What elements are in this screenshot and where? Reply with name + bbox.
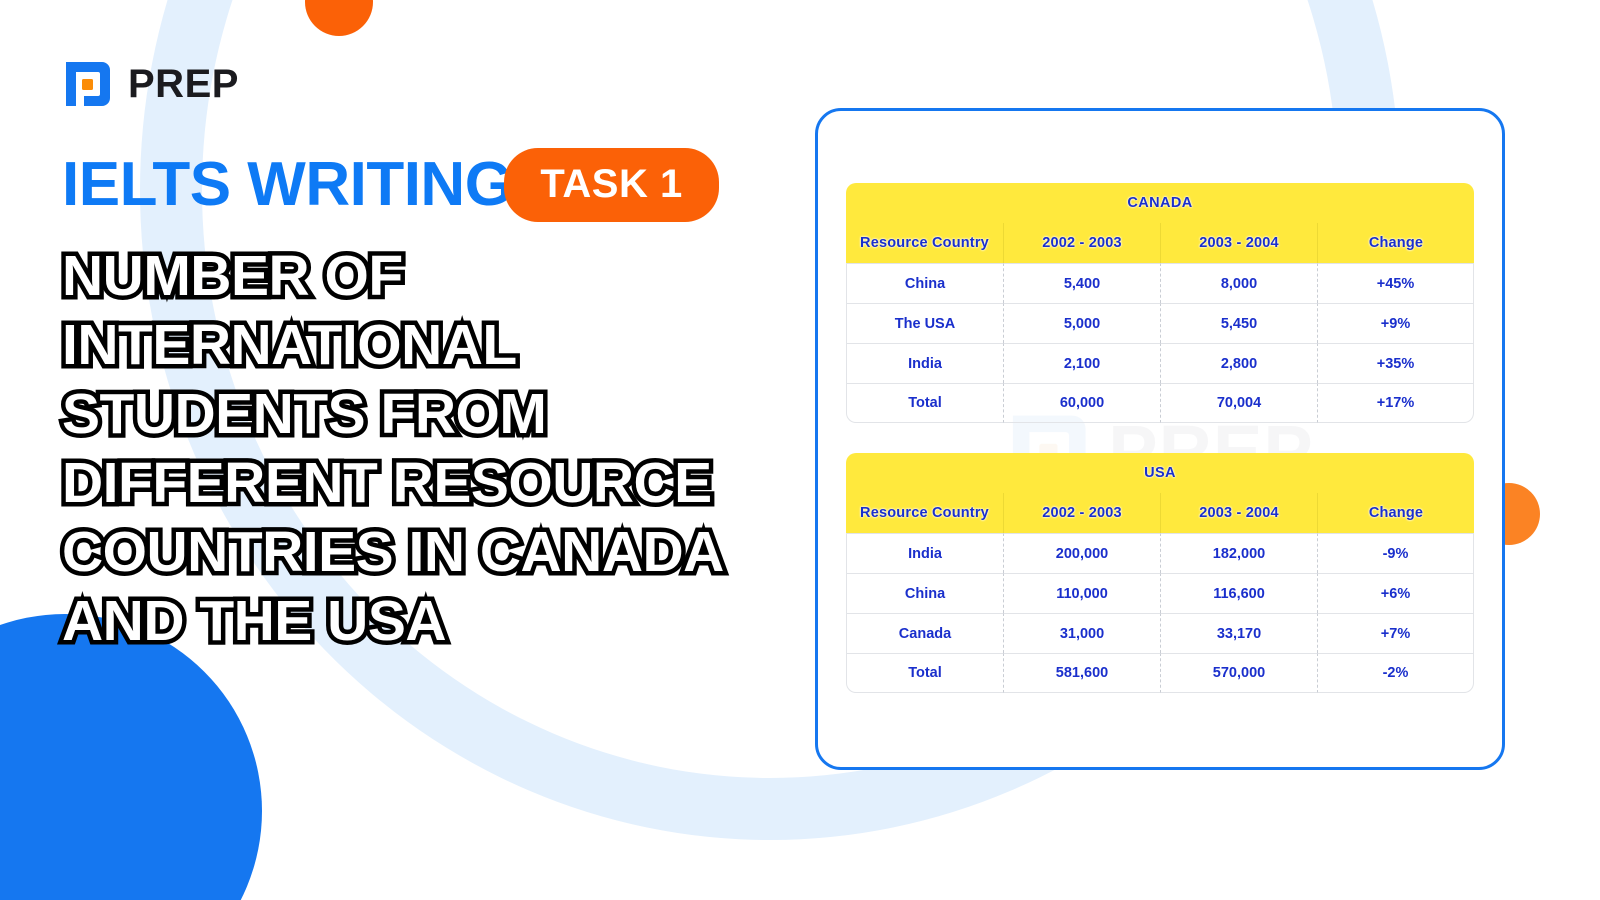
table-title-row: USA <box>846 453 1474 493</box>
table-header-row: Resource Country 2002 - 2003 2003 - 2004… <box>846 493 1474 533</box>
cell-2003-2004: 2,800 <box>1160 343 1317 383</box>
column-header-2002-2003: 2002 - 2003 <box>1003 223 1160 263</box>
column-header-resource-country: Resource Country <box>846 493 1003 533</box>
cell-2002-2003: 60,000 <box>1003 383 1160 423</box>
table-row-total: Total 60,000 70,004 +17% <box>846 383 1474 423</box>
table-row: Canada 31,000 33,170 +7% <box>846 613 1474 653</box>
headline-text: NUMBER OF INTERNATIONAL STUDENTS FROM DI… <box>62 242 762 656</box>
tables-container: CANADA Resource Country 2002 - 2003 2003… <box>818 111 1502 693</box>
cell-country: China <box>846 573 1003 613</box>
cell-2002-2003: 2,100 <box>1003 343 1160 383</box>
table-title: CANADA <box>846 183 1474 223</box>
page-title: IELTS WRITING <box>62 154 512 216</box>
cell-change: +45% <box>1317 263 1474 303</box>
cell-change: -2% <box>1317 653 1474 693</box>
table-title: USA <box>846 453 1474 493</box>
cell-2002-2003: 110,000 <box>1003 573 1160 613</box>
column-header-resource-country: Resource Country <box>846 223 1003 263</box>
cell-2002-2003: 200,000 <box>1003 533 1160 573</box>
cell-country: China <box>846 263 1003 303</box>
column-header-2002-2003: 2002 - 2003 <box>1003 493 1160 533</box>
cell-2003-2004: 8,000 <box>1160 263 1317 303</box>
poster-canvas: PREP IELTS WRITING TASK 1 NUMBER OF INTE… <box>0 0 1600 900</box>
blue-circle-decoration <box>0 614 262 900</box>
cell-2003-2004: 70,004 <box>1160 383 1317 423</box>
cell-2002-2003: 31,000 <box>1003 613 1160 653</box>
cell-2002-2003: 5,400 <box>1003 263 1160 303</box>
column-header-change: Change <box>1317 223 1474 263</box>
cell-2003-2004: 5,450 <box>1160 303 1317 343</box>
cell-country: India <box>846 343 1003 383</box>
table-row: China 5,400 8,000 +45% <box>846 263 1474 303</box>
column-header-2003-2004: 2003 - 2004 <box>1160 223 1317 263</box>
cell-2003-2004: 33,170 <box>1160 613 1317 653</box>
cell-2003-2004: 182,000 <box>1160 533 1317 573</box>
cell-2002-2003: 581,600 <box>1003 653 1160 693</box>
canada-table: CANADA Resource Country 2002 - 2003 2003… <box>846 183 1474 423</box>
table-row: The USA 5,000 5,450 +9% <box>846 303 1474 343</box>
table-row: India 2,100 2,800 +35% <box>846 343 1474 383</box>
cell-country: India <box>846 533 1003 573</box>
cell-change: +7% <box>1317 613 1474 653</box>
column-header-2003-2004: 2003 - 2004 <box>1160 493 1317 533</box>
cell-change: +17% <box>1317 383 1474 423</box>
brand-name: PREP <box>128 64 239 104</box>
cell-country: Total <box>846 383 1003 423</box>
title-row: IELTS WRITING TASK 1 <box>62 148 719 222</box>
orange-circle-top-decoration <box>305 0 373 36</box>
cell-country: Total <box>846 653 1003 693</box>
cell-country: Canada <box>846 613 1003 653</box>
usa-table: USA Resource Country 2002 - 2003 2003 - … <box>846 453 1474 693</box>
cell-2003-2004: 116,600 <box>1160 573 1317 613</box>
cell-change: +9% <box>1317 303 1474 343</box>
task-badge: TASK 1 <box>504 148 718 222</box>
cell-2002-2003: 5,000 <box>1003 303 1160 343</box>
table-header-row: Resource Country 2002 - 2003 2003 - 2004… <box>846 223 1474 263</box>
table-row: China 110,000 116,600 +6% <box>846 573 1474 613</box>
data-card: PREP CANADA Resource Country 2002 - 2003… <box>815 108 1505 770</box>
cell-change: +35% <box>1317 343 1474 383</box>
cell-change: +6% <box>1317 573 1474 613</box>
cell-country: The USA <box>846 303 1003 343</box>
column-header-change: Change <box>1317 493 1474 533</box>
table-title-row: CANADA <box>846 183 1474 223</box>
brand-logo[interactable]: PREP <box>62 58 239 110</box>
table-row-total: Total 581,600 570,000 -2% <box>846 653 1474 693</box>
cell-change: -9% <box>1317 533 1474 573</box>
cell-2003-2004: 570,000 <box>1160 653 1317 693</box>
table-row: India 200,000 182,000 -9% <box>846 533 1474 573</box>
prep-logo-icon <box>62 58 114 110</box>
